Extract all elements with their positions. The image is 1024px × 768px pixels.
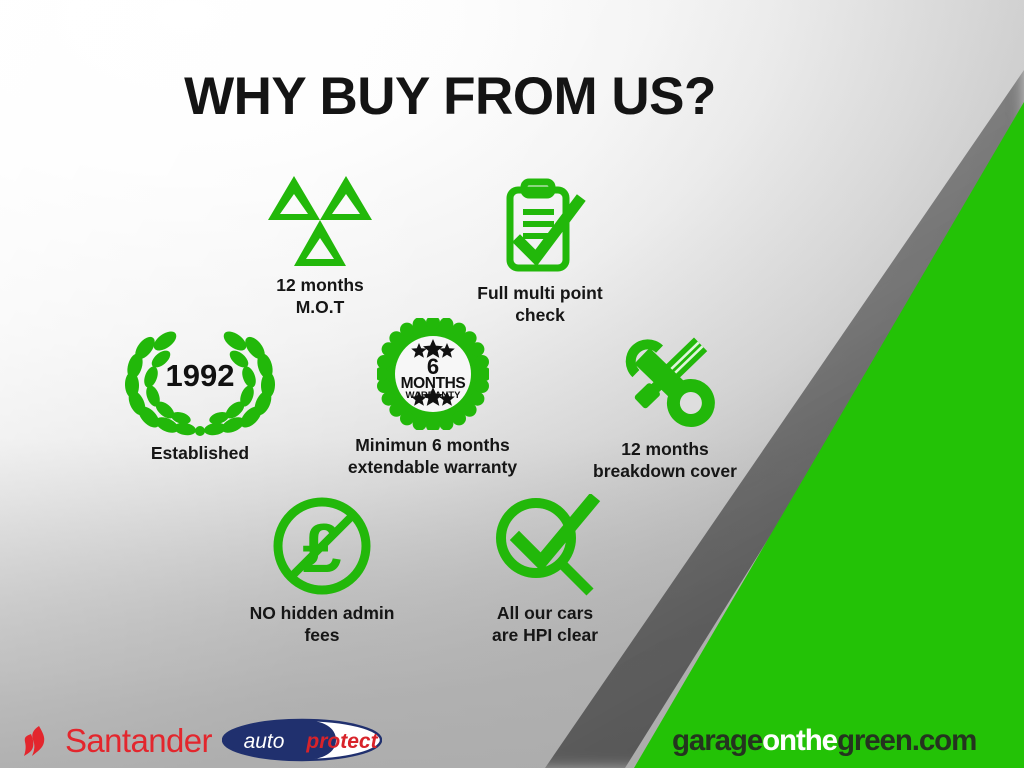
site-logo-part-onthe: onthe bbox=[762, 724, 837, 757]
feature-warranty: 6 MONTHS WARRANTY Minimun 6 months exten… bbox=[320, 318, 545, 479]
badge-warranty-label: WARRANTY bbox=[405, 390, 461, 401]
wrench-screwdriver-icon bbox=[565, 322, 765, 434]
site-logo-part-greencom: green.com bbox=[837, 724, 976, 757]
autoprotect-word-protect: protect bbox=[305, 730, 378, 753]
autoprotect-logo: auto protect bbox=[222, 718, 382, 762]
santander-wordmark: Santander bbox=[65, 722, 212, 760]
feature-caption: Minimun 6 months extendable warranty bbox=[320, 434, 545, 479]
no-pound-sign-icon: £ bbox=[222, 494, 422, 598]
established-year: 1992 bbox=[100, 358, 300, 394]
feature-no-admin-fees: £ NO hidden admin fees bbox=[222, 494, 422, 647]
promo-poster: WHY BUY FROM US? 12 months M.O.T bbox=[0, 0, 1024, 768]
feature-caption: All our cars are HPI clear bbox=[450, 602, 640, 647]
feature-breakdown-cover: 12 months breakdown cover bbox=[565, 322, 765, 483]
site-logo: garageonthegreen.com bbox=[672, 724, 976, 758]
santander-flame-icon bbox=[22, 725, 56, 757]
page-title: WHY BUY FROM US? bbox=[140, 66, 760, 127]
feature-caption: 12 months M.O.T bbox=[225, 274, 415, 319]
feature-caption: 12 months breakdown cover bbox=[565, 438, 765, 483]
feature-hpi-clear: All our cars are HPI clear bbox=[450, 494, 640, 647]
autoprotect-word-auto: auto bbox=[244, 730, 285, 753]
site-logo-part-garage: garage bbox=[672, 724, 762, 757]
warranty-badge-icon: 6 MONTHS WARRANTY bbox=[320, 318, 545, 430]
santander-logo: Santander bbox=[22, 722, 212, 760]
clipboard-check-icon bbox=[440, 178, 640, 278]
feature-caption: Established bbox=[100, 442, 300, 464]
mot-triangles-icon bbox=[225, 172, 415, 270]
feature-mot: 12 months M.O.T bbox=[225, 172, 415, 319]
feature-caption: NO hidden admin fees bbox=[222, 602, 422, 647]
feature-established: 1992 Established bbox=[100, 326, 300, 464]
magnifier-check-icon bbox=[450, 494, 640, 598]
feature-multi-point-check: Full multi point check bbox=[440, 178, 640, 327]
